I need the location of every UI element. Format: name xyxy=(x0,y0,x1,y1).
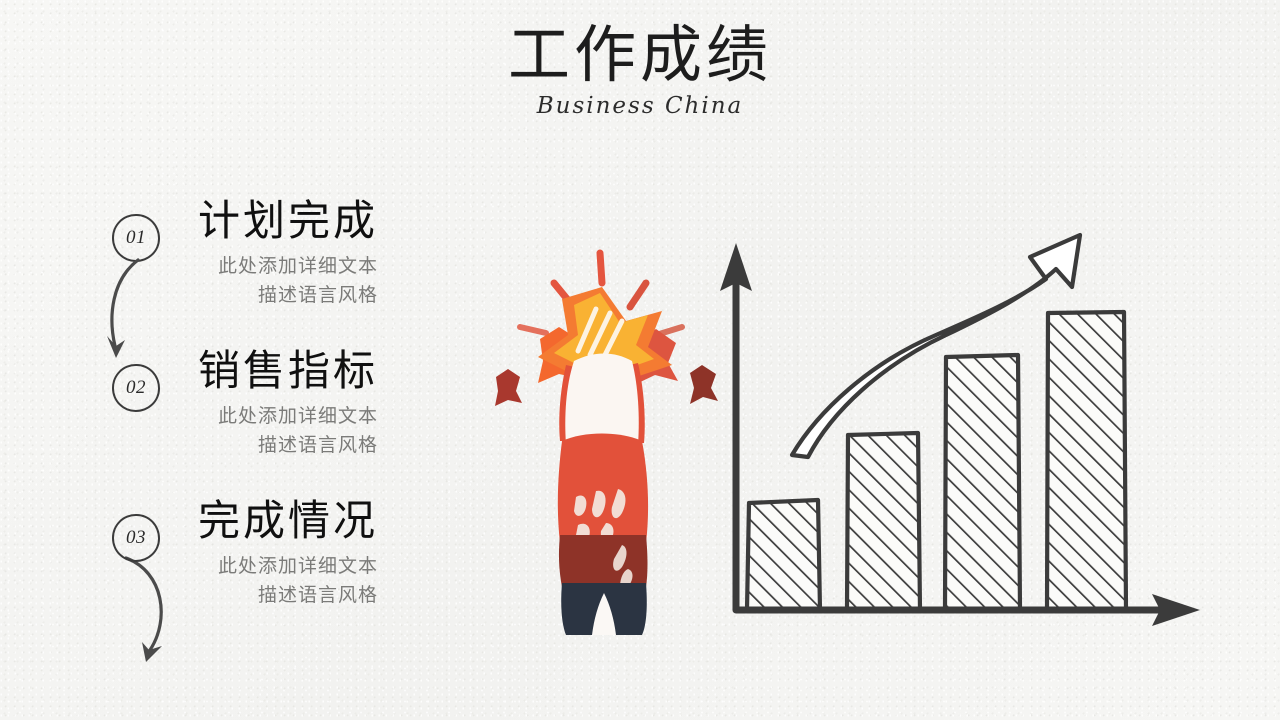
agenda-item-1-text: 计划完成 此处添加详细文本 描述语言风格 xyxy=(198,200,423,310)
page-subtitle: Business China xyxy=(0,93,1280,119)
agenda-item-1[interactable]: 01 计划完成 此处添加详细文本 描述语言风格 xyxy=(90,200,420,350)
agenda-item-1-description: 此处添加详细文本 描述语言风格 xyxy=(198,253,378,310)
agenda-list: 01 计划完成 此处添加详细文本 描述语言风格 02 销售指标 xyxy=(90,200,420,630)
bar-2 xyxy=(847,433,920,610)
shirt xyxy=(558,434,648,544)
agenda-item-3-description: 此处添加详细文本 描述语言风格 xyxy=(198,553,378,610)
page-title: 工作成绩 xyxy=(0,24,1280,89)
agenda-item-3-desc-line1: 此处添加详细文本 xyxy=(218,556,378,577)
number-badge-01: 01 xyxy=(112,214,160,262)
number-badge-02: 02 xyxy=(112,364,160,412)
agenda-item-3[interactable]: 03 完成情况 此处添加详细文本 描述语言风格 xyxy=(90,500,420,630)
bar-4 xyxy=(1047,312,1126,610)
bar-3 xyxy=(945,355,1020,610)
title-block: 工作成绩 Business China xyxy=(0,24,1280,119)
bar-1 xyxy=(747,500,820,610)
number-badge-label: 03 xyxy=(126,527,146,549)
agenda-item-2-description: 此处添加详细文本 描述语言风格 xyxy=(198,403,378,460)
number-badge-03: 03 xyxy=(112,514,160,562)
growth-arrow-icon xyxy=(792,235,1080,457)
agenda-item-3-heading: 完成情况 xyxy=(198,500,423,545)
torso-highlight xyxy=(565,354,638,446)
lower-body xyxy=(559,535,648,587)
agenda-item-3-desc-line2: 描述语言风格 xyxy=(258,585,378,606)
bar-chart-illustration xyxy=(700,195,1220,640)
agenda-item-2[interactable]: 02 销售指标 此处添加详细文本 描述语言风格 xyxy=(90,350,420,500)
agenda-item-1-desc-line2: 描述语言风格 xyxy=(258,285,378,306)
number-badge-label: 02 xyxy=(126,377,146,399)
celebration-illustration xyxy=(450,235,730,635)
agenda-item-2-desc-line1: 此处添加详细文本 xyxy=(218,406,378,427)
agenda-item-1-heading: 计划完成 xyxy=(198,200,423,245)
agenda-item-2-heading: 销售指标 xyxy=(198,350,423,395)
agenda-item-3-text: 完成情况 此处添加详细文本 描述语言风格 xyxy=(198,500,423,610)
chart-bars xyxy=(747,312,1126,610)
slide-canvas: 工作成绩 Business China 01 计划完成 此处添加详细文本 描述语… xyxy=(0,0,1280,720)
agenda-item-2-desc-line2: 描述语言风格 xyxy=(258,435,378,456)
number-badge-label: 01 xyxy=(126,227,146,249)
agenda-item-2-text: 销售指标 此处添加详细文本 描述语言风格 xyxy=(198,350,423,460)
agenda-item-1-desc-line1: 此处添加详细文本 xyxy=(218,256,378,277)
